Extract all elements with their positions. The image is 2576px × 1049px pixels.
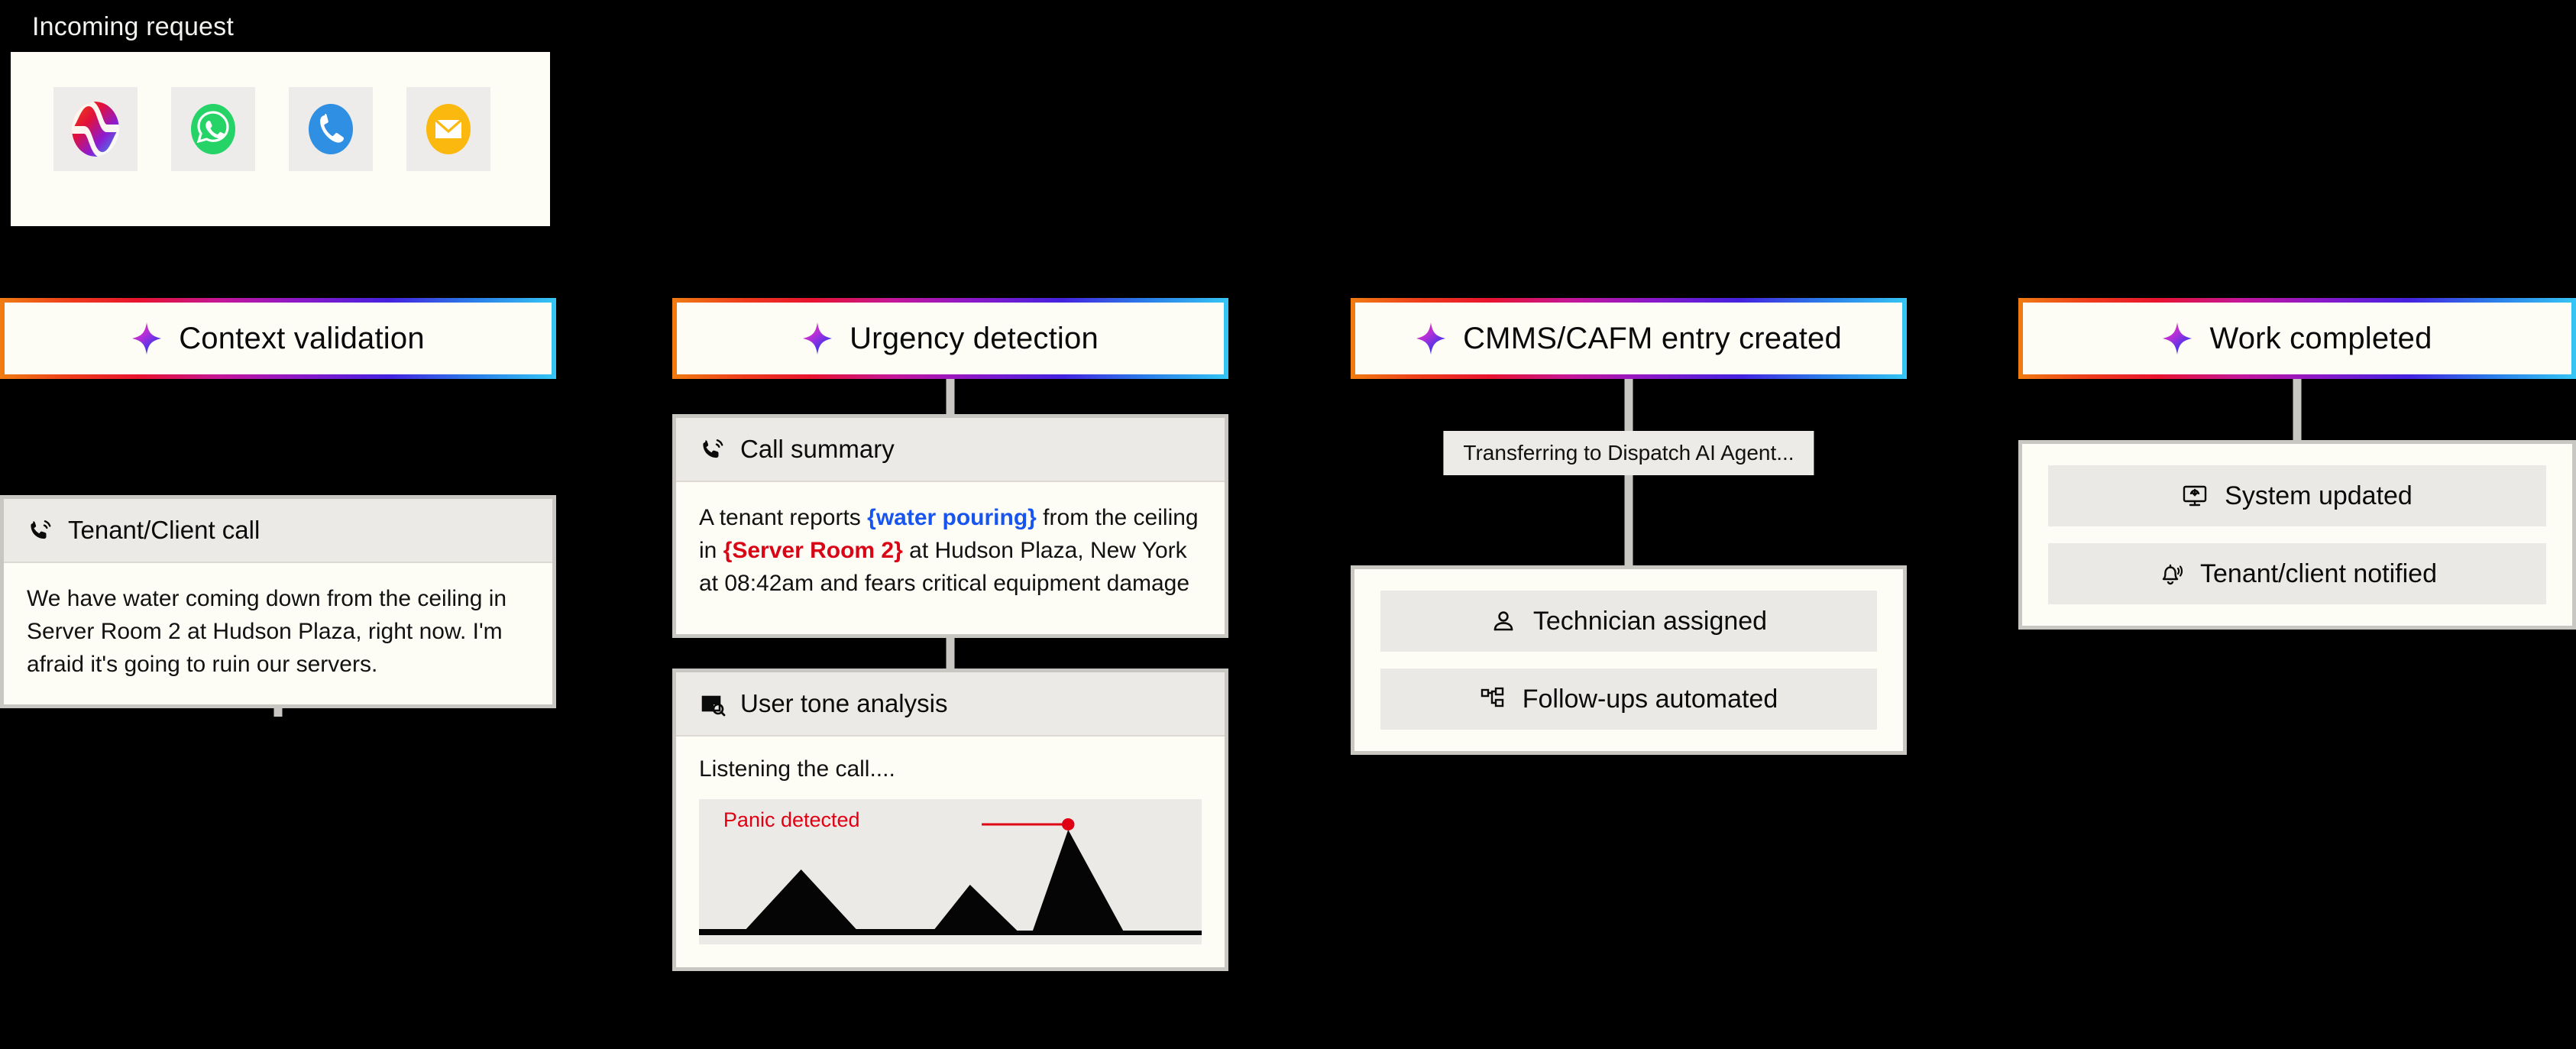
phone-ring-icon [699, 435, 727, 463]
column-cmms-cafm: CMMS/CAFM entry created Transferring to … [1351, 298, 1907, 755]
monitor-sync-icon [2182, 483, 2208, 509]
stage-title: Context validation [179, 322, 425, 356]
panel-call-summary: Call summary A tenant reports {water pou… [672, 414, 1228, 638]
image-search-icon [699, 690, 727, 717]
channel-tile-email[interactable] [406, 87, 490, 171]
panel-title: User tone analysis [740, 689, 947, 718]
panel-dispatch-results: Technician assigned Follow-ups automated [1351, 565, 1907, 755]
panel-completion-results: System updated Tenant/client notified [2018, 440, 2576, 630]
tenant-call-transcript: We have water coming down from the ceili… [27, 583, 529, 682]
phone-ring-icon [27, 516, 54, 544]
channel-tile-phone[interactable] [289, 87, 373, 171]
panel-header: User tone analysis [676, 672, 1225, 737]
connector-line [947, 379, 955, 414]
chip-technician-assigned[interactable]: Technician assigned [1380, 591, 1877, 652]
whatsapp-icon [189, 102, 237, 157]
flow-canvas: Incoming request [0, 0, 2576, 1049]
channel-tile-omnichannel[interactable] [53, 87, 138, 171]
panel-title: Call summary [740, 435, 895, 464]
stage-title: Urgency detection [849, 322, 1099, 356]
summary-highlight-server-room: {Server Room 2} [723, 538, 903, 563]
tone-waveform-chart: Panic detected [699, 799, 1202, 944]
connector-line [2293, 379, 2302, 440]
panel-header: Tenant/Client call [4, 499, 552, 563]
person-icon [1490, 608, 1516, 634]
column-context-validation: Context validation Tenant/Client call We… [0, 298, 556, 708]
panel-user-tone-analysis: User tone analysis Listening the call...… [672, 669, 1228, 971]
stage-title: Work completed [2209, 322, 2432, 356]
chip-tenant-client-notified[interactable]: Tenant/client notified [2048, 543, 2546, 604]
panel-body: We have water coming down from the ceili… [4, 563, 552, 704]
sparkle-icon [802, 322, 833, 355]
sparkle-icon [1416, 322, 1446, 355]
chip-label: System updated [2225, 481, 2413, 511]
chip-label: Tenant/client notified [2200, 559, 2437, 589]
stage-card-cmms-cafm-entry-created[interactable]: CMMS/CAFM entry created [1351, 298, 1907, 379]
connector-line [947, 638, 955, 669]
chip-follow-ups-automated[interactable]: Follow-ups automated [1380, 669, 1877, 730]
summary-seg-0: A tenant reports [699, 505, 867, 530]
sparkle-icon [2162, 322, 2193, 355]
omnichannel-logo-icon [72, 102, 119, 157]
stage-card-context-validation[interactable]: Context validation [0, 298, 556, 379]
panel-body: A tenant reports {water pouring} from th… [676, 482, 1225, 634]
panic-detected-annotation-label: Panic detected [723, 808, 860, 832]
stage-card-work-completed[interactable]: Work completed [2018, 298, 2576, 379]
panel-body: Listening the call.... Panic detected [676, 737, 1225, 967]
summary-highlight-water-pouring: {water pouring} [867, 505, 1037, 530]
panel-tenant-client-call: Tenant/Client call We have water coming … [0, 495, 556, 708]
sparkle-icon [131, 322, 162, 355]
chip-label: Technician assigned [1533, 607, 1767, 636]
chip-system-updated[interactable]: System updated [2048, 465, 2546, 526]
stage-card-urgency-detection[interactable]: Urgency detection [672, 298, 1228, 379]
call-summary-text: A tenant reports {water pouring} from th… [699, 502, 1202, 601]
incoming-request-panel [11, 52, 550, 226]
tone-status-text: Listening the call.... [699, 756, 1202, 782]
panel-header: Call summary [676, 418, 1225, 482]
incoming-request-label: Incoming request [32, 12, 234, 42]
panel-title: Tenant/Client call [68, 516, 260, 545]
email-icon [425, 102, 472, 157]
transferring-status-pill: Transferring to Dispatch AI Agent... [1443, 431, 1814, 475]
channel-icon-row [11, 52, 550, 171]
stage-title: CMMS/CAFM entry created [1463, 322, 1842, 356]
phone-call-icon [307, 102, 354, 157]
workflow-icon [1480, 686, 1506, 712]
channel-tile-whatsapp[interactable] [171, 87, 255, 171]
chip-label: Follow-ups automated [1523, 685, 1778, 714]
column-work-completed: Work completed System updated [2018, 298, 2576, 630]
bell-ring-icon [2157, 561, 2183, 587]
column-urgency-detection: Urgency detection Call summary A tenant … [672, 298, 1228, 971]
